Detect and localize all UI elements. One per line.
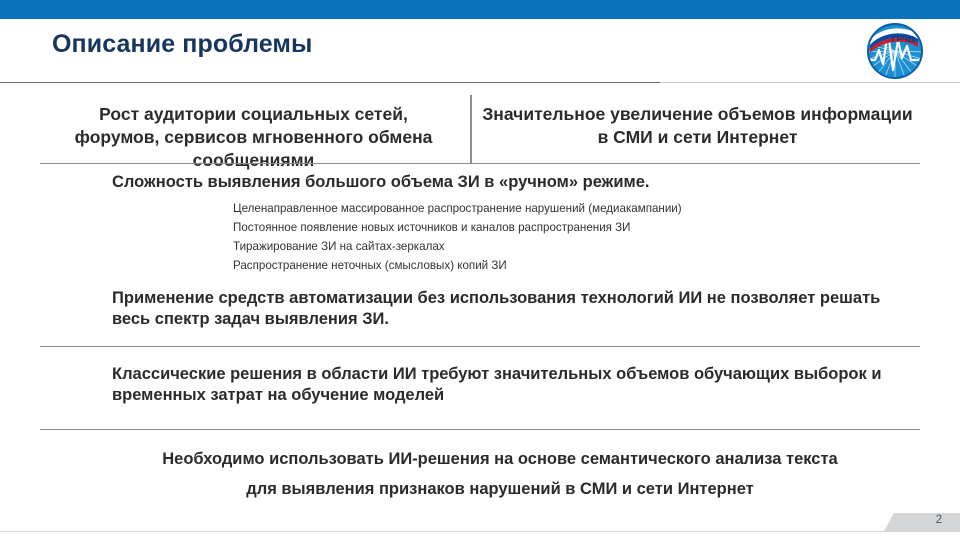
top-row-right-text: Значительное увеличение объемов информац… xyxy=(480,103,915,149)
grchc-logo-text: ГРЧЦ xyxy=(892,34,915,44)
grchc-logo: ГРЧЦ xyxy=(862,20,928,82)
manual-subitem-1: Постоянное появление новых источников и … xyxy=(233,219,933,238)
manual-subitem-2: Тиражирование ЗИ на сайтах-зеркалах xyxy=(233,238,933,257)
conclusion-line-1: Необходимо использовать ИИ-решения на ос… xyxy=(120,449,880,470)
header-divider-right xyxy=(660,82,960,83)
divider-2 xyxy=(40,346,920,347)
top-row-left-text: Рост аудитории социальных сетей, форумов… xyxy=(56,103,451,171)
divider-1 xyxy=(40,163,920,164)
top-accent-bar xyxy=(0,0,960,19)
classic-section-paragraph: Классические решения в области ИИ требую… xyxy=(112,364,907,407)
slide-canvas: Описание проблемы xyxy=(0,0,960,540)
manual-subitem-0: Целенаправленное массированное распростр… xyxy=(233,200,933,219)
footer-divider xyxy=(0,531,960,532)
manual-section-heading: Сложность выявления большого объема ЗИ в… xyxy=(112,172,912,193)
manual-subitem-3: Распространение неточных (смысловых) коп… xyxy=(233,257,933,276)
page-number: 2 xyxy=(930,514,948,526)
page-number-chip xyxy=(884,513,960,531)
manual-section-paragraph: Применение средств автоматизации без исп… xyxy=(112,288,902,331)
header-divider-left xyxy=(0,82,660,83)
grchc-logo-icon: ГРЧЦ xyxy=(862,20,928,82)
top-row-vertical-divider xyxy=(470,95,472,163)
conclusion-line-2: для выявления признаков нарушений в СМИ … xyxy=(120,479,880,500)
divider-3 xyxy=(40,429,920,430)
page-title: Описание проблемы xyxy=(52,30,312,59)
